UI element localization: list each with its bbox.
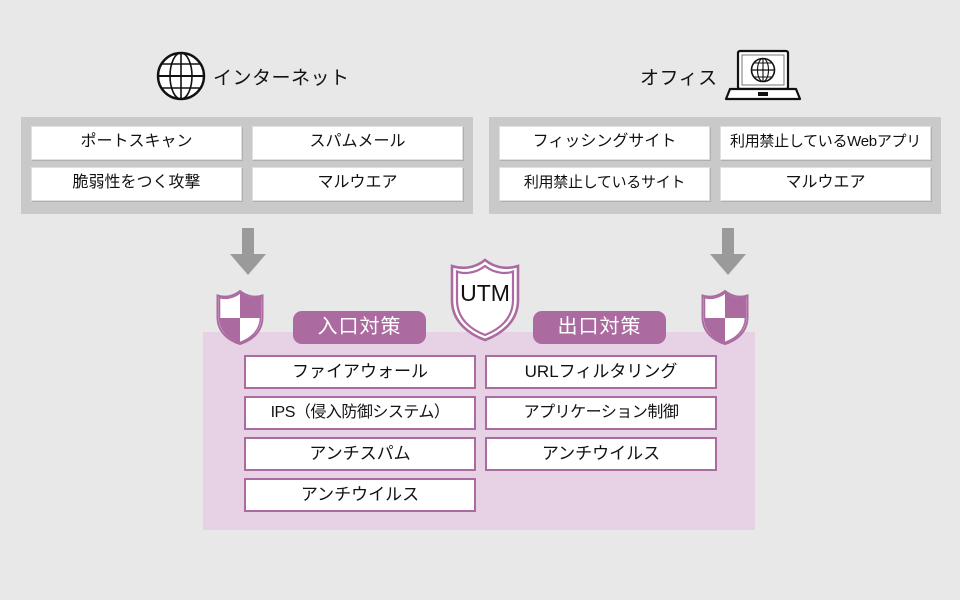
source-header-internet: インターネット (155, 48, 350, 104)
measure-item: IPS（侵入防御システム） (244, 396, 476, 430)
shield-checker-icon (700, 289, 750, 345)
measure-item: アンチウイルス (244, 478, 476, 512)
measure-column-ingress: ファイアウォール IPS（侵入防御システム） アンチスパム アンチウイルス (244, 355, 476, 519)
pill-ingress-measures: 入口対策 (293, 311, 426, 344)
threat-row: 利用禁止しているサイト マルウエア (499, 167, 931, 201)
source-label-internet: インターネット (213, 63, 350, 90)
threat-item: 脆弱性をつく攻撃 (31, 167, 242, 201)
arrow-down-icon (229, 228, 267, 276)
threat-item: 利用禁止しているWebアプリ (720, 126, 931, 160)
diagram-canvas: インターネット オフィス ポートスキャン スパムメール 脆 (0, 0, 960, 600)
measure-item: ファイアウォール (244, 355, 476, 389)
shield-icon: UTM (449, 258, 521, 342)
measure-column-egress: URLフィルタリング アプリケーション制御 アンチウイルス (485, 355, 717, 478)
globe-icon (155, 50, 207, 102)
pill-egress-measures: 出口対策 (533, 311, 666, 344)
laptop-icon (724, 48, 802, 104)
threat-item: フィッシングサイト (499, 126, 710, 160)
measure-item: アンチウイルス (485, 437, 717, 471)
threat-item: 利用禁止しているサイト (499, 167, 710, 201)
measure-item: アプリケーション制御 (485, 396, 717, 430)
shield-checker-icon (215, 289, 265, 345)
measure-item: アンチスパム (244, 437, 476, 471)
measure-item: URLフィルタリング (485, 355, 717, 389)
threat-item: スパムメール (252, 126, 463, 160)
source-label-office: オフィス (640, 63, 718, 90)
threat-panel-office: フィッシングサイト 利用禁止しているWebアプリ 利用禁止しているサイト マルウ… (489, 117, 941, 214)
threat-panel-internet: ポートスキャン スパムメール 脆弱性をつく攻撃 マルウエア (21, 117, 473, 214)
threat-row: ポートスキャン スパムメール (31, 126, 463, 160)
utm-shield-label: UTM (449, 280, 521, 307)
source-header-office: オフィス (640, 48, 802, 104)
arrow-down-icon (709, 228, 747, 276)
threat-item: マルウエア (720, 167, 931, 201)
threat-row: 脆弱性をつく攻撃 マルウエア (31, 167, 463, 201)
threat-item: ポートスキャン (31, 126, 242, 160)
threat-row: フィッシングサイト 利用禁止しているWebアプリ (499, 126, 931, 160)
threat-item: マルウエア (252, 167, 463, 201)
